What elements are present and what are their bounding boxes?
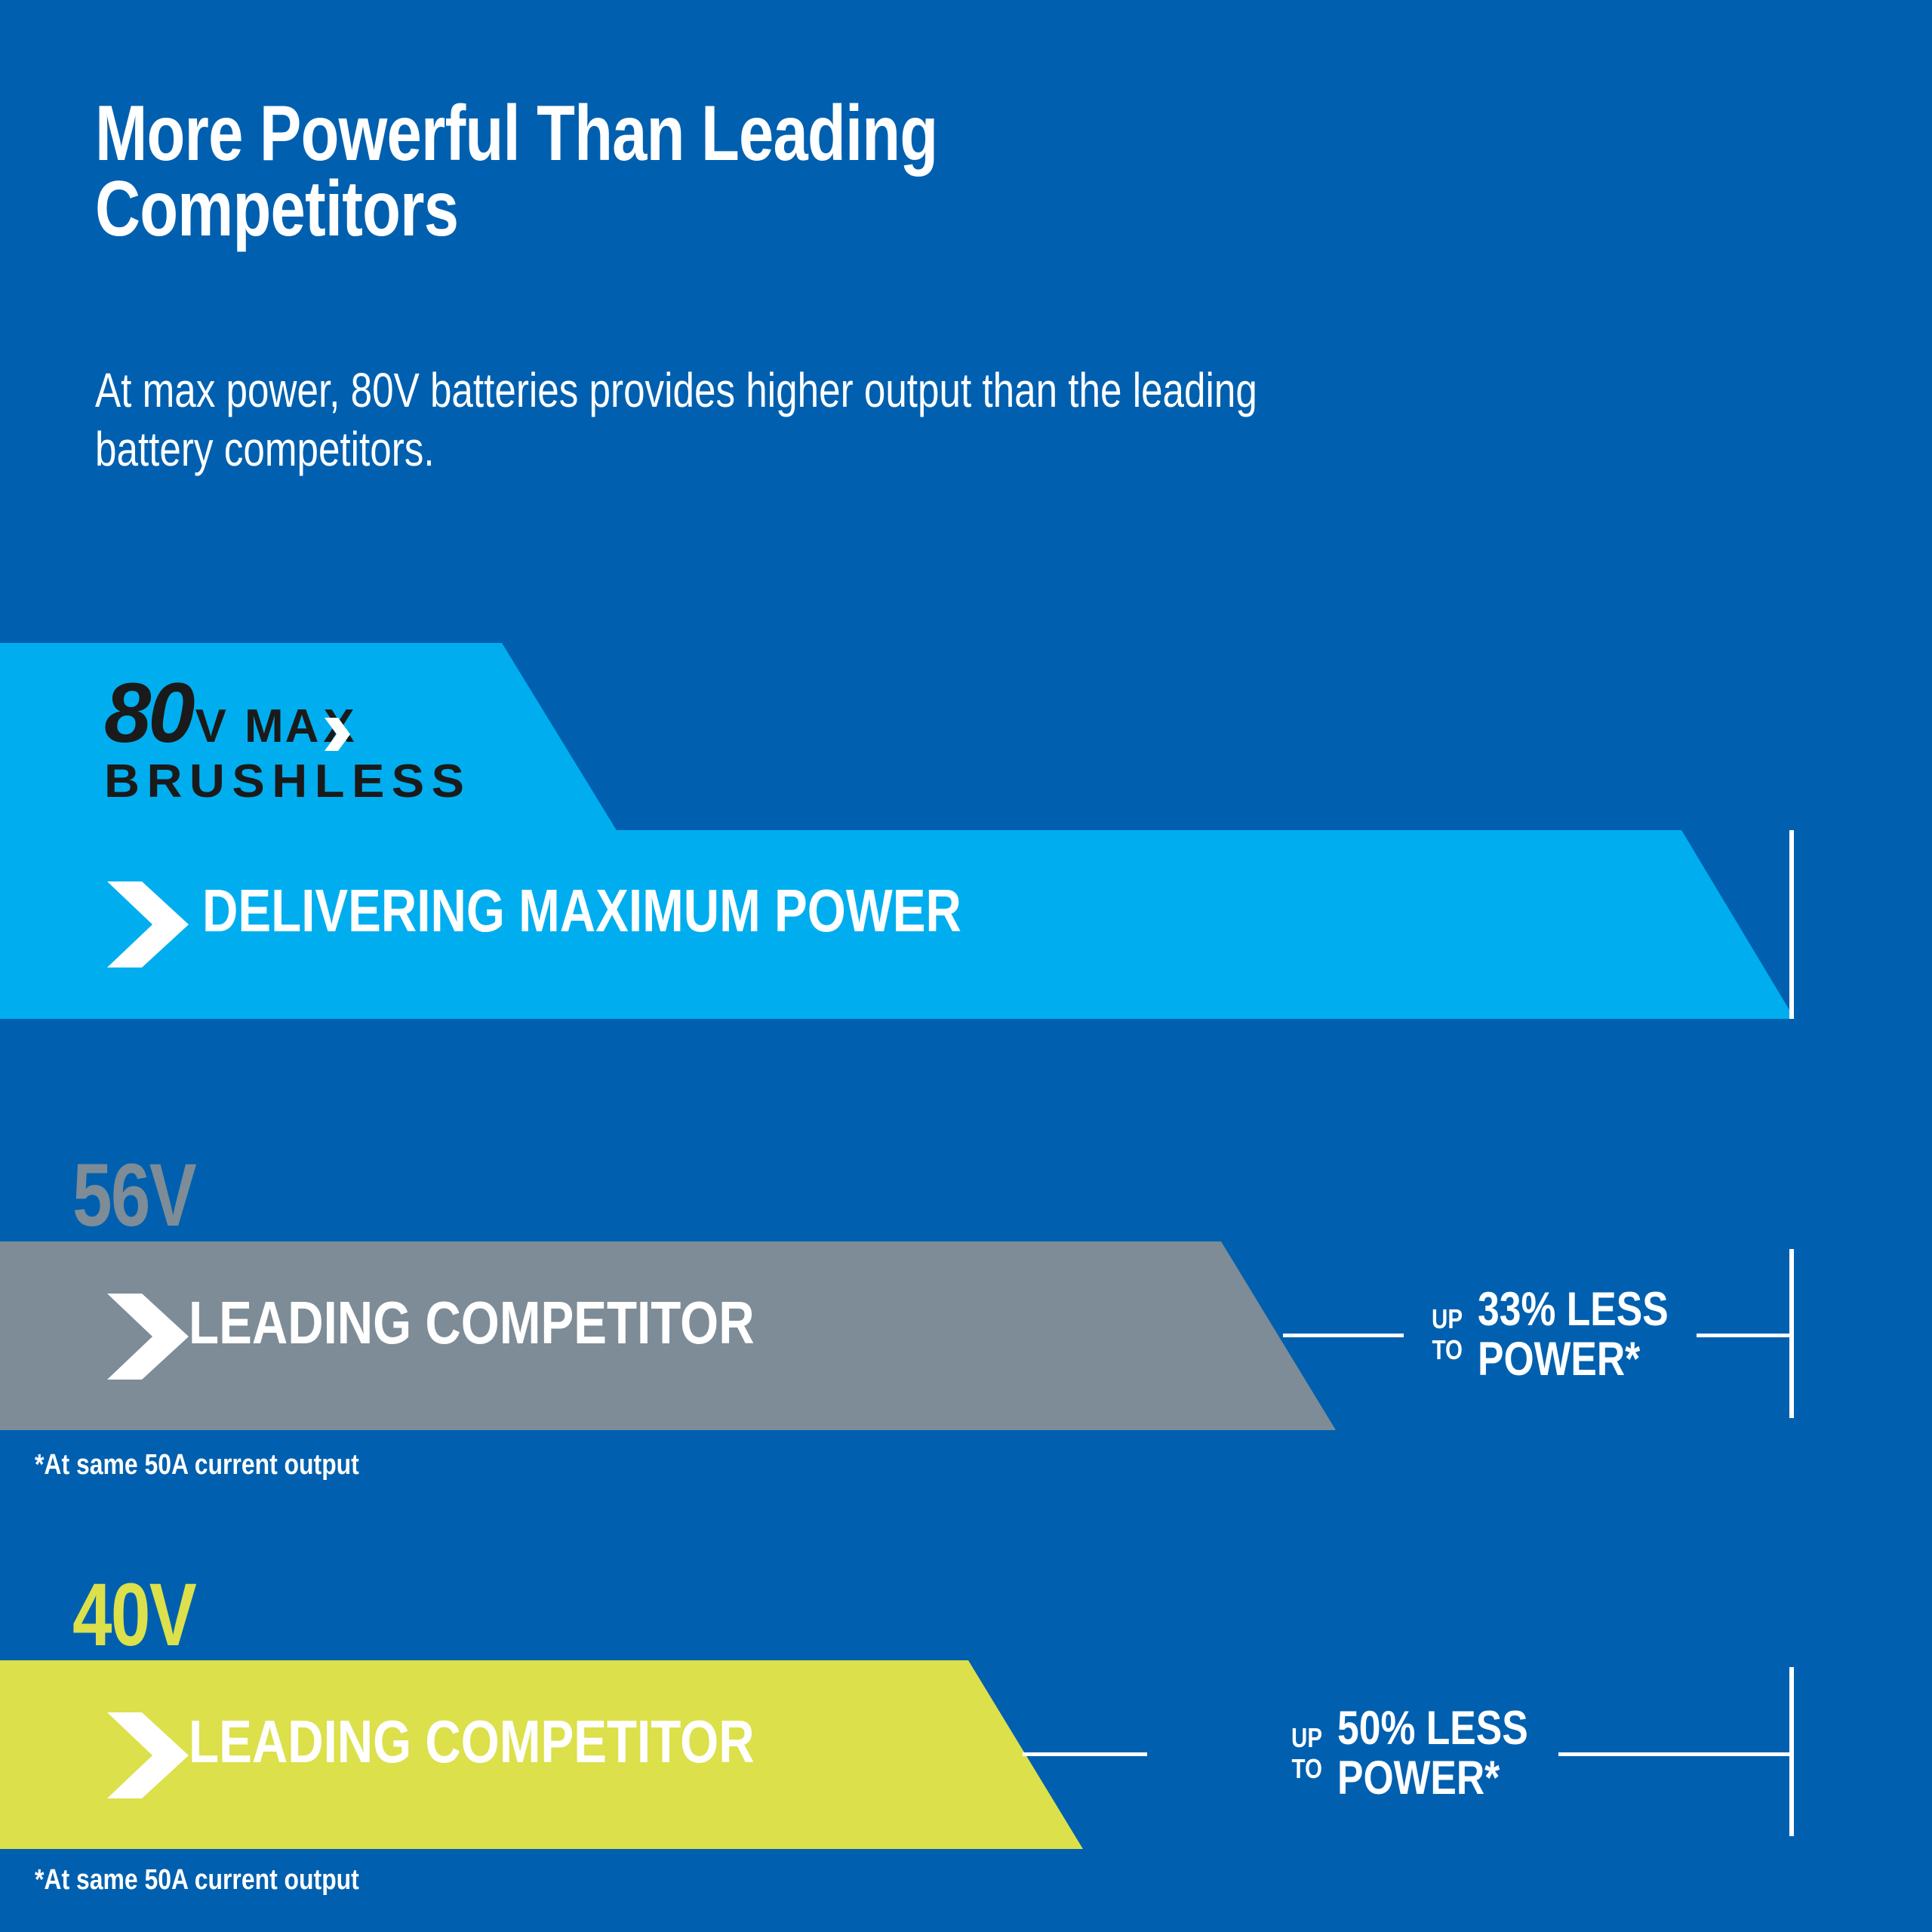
- bracket-tick-80v: [1789, 830, 1794, 1019]
- callout-value-line2-40v: POWER*: [1337, 1754, 1528, 1804]
- callout-prefix-line2-40v: TO: [1291, 1754, 1322, 1784]
- bar-label-40v: LEADING COMPETITOR: [189, 1707, 755, 1777]
- callout-prefix-40v: UP TO: [1291, 1723, 1322, 1784]
- bar-label-80v: DELIVERING MAXIMUM POWER: [202, 876, 961, 946]
- voltage-label-56v: 56V: [72, 1144, 195, 1247]
- page-title: More Powerful Than Leading Competitors: [95, 97, 1121, 248]
- callout-value-line1-56v: 33% LESS: [1478, 1285, 1669, 1335]
- logo-80v-max: 80VMAX: [104, 664, 356, 761]
- leader-line-left-40v: [1023, 1752, 1147, 1756]
- logo-max-x: X: [323, 700, 355, 753]
- footnote-40v: *At same 50A current output: [35, 1864, 359, 1897]
- page-subtitle: At max power, 80V batteries provides hig…: [95, 361, 1333, 478]
- leader-line-left-56v: [1283, 1334, 1404, 1337]
- leader-line-right-56v: [1697, 1334, 1792, 1337]
- footnote-56v: *At same 50A current output: [35, 1449, 359, 1481]
- callout-40v: UP TO 50% LESS POWER*: [1284, 1704, 1570, 1803]
- callout-value-56v: 33% LESS POWER*: [1478, 1285, 1669, 1384]
- logo-max-text: MA: [245, 700, 320, 753]
- callout-value-line2-56v: POWER*: [1478, 1335, 1669, 1385]
- callout-56v: UP TO 33% LESS POWER*: [1425, 1285, 1710, 1384]
- logo-voltage-unit: V: [195, 700, 228, 753]
- bracket-tick-40v: [1789, 1667, 1794, 1836]
- voltage-label-40v: 40V: [72, 1564, 195, 1666]
- logo-voltage-number: 80: [104, 664, 192, 761]
- callout-value-line1-40v: 50% LESS: [1337, 1704, 1528, 1754]
- bar-label-56v: LEADING COMPETITOR: [189, 1288, 755, 1358]
- callout-prefix-line1-40v: UP: [1291, 1723, 1322, 1753]
- callout-prefix-line1-56v: UP: [1432, 1304, 1463, 1334]
- infographic-canvas: More Powerful Than Leading Competitors A…: [0, 0, 1932, 1932]
- bracket-tick-56v: [1789, 1249, 1794, 1418]
- logo-brushless-text: BRUSHLESS: [104, 755, 472, 808]
- callout-prefix-line2-56v: TO: [1432, 1335, 1463, 1365]
- leader-line-right-40v: [1558, 1752, 1792, 1756]
- callout-value-40v: 50% LESS POWER*: [1337, 1704, 1528, 1803]
- callout-prefix-56v: UP TO: [1432, 1304, 1463, 1365]
